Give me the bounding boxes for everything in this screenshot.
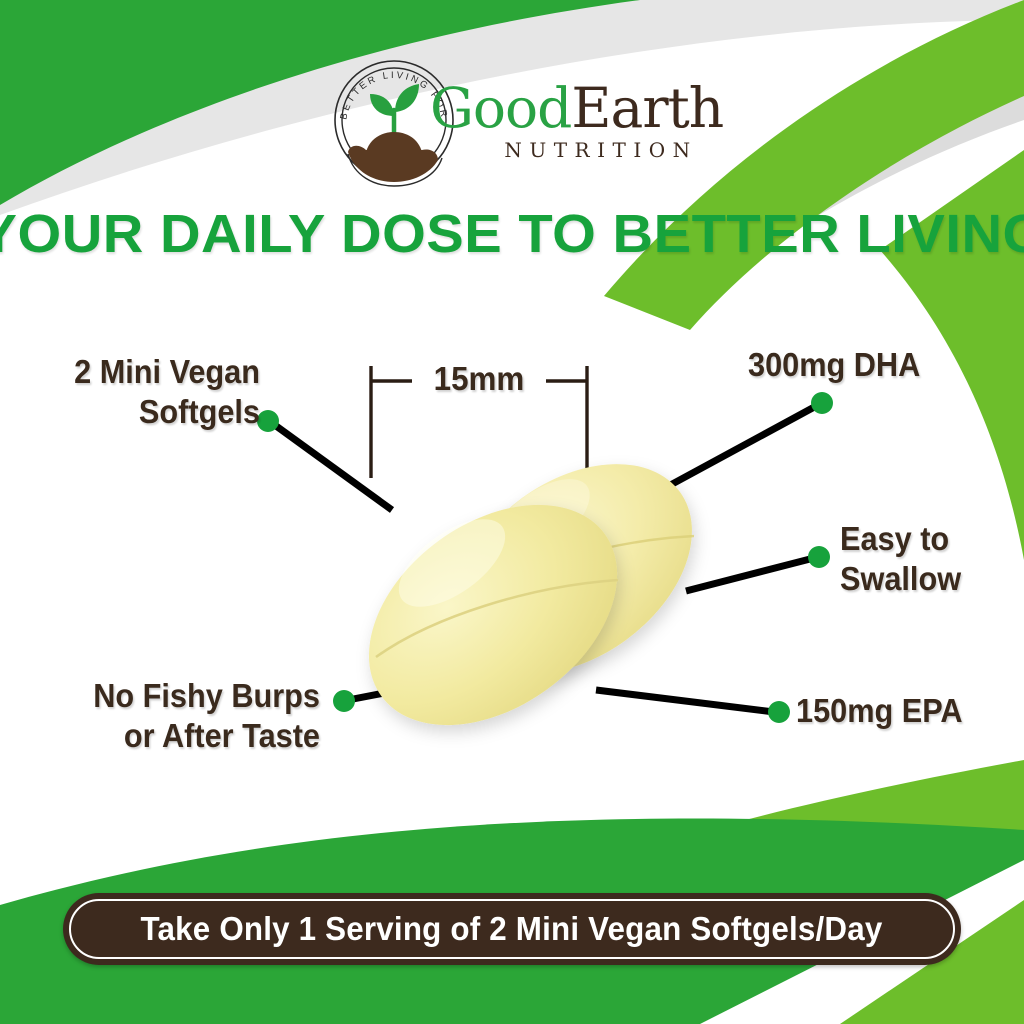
logo-wordmark: GoodEarth NUTRITION xyxy=(430,80,720,180)
dimension-label: 15mm xyxy=(413,360,546,398)
logo-word-good: Good xyxy=(430,76,571,140)
page-title: YOUR DAILY DOSE TO BETTER LIVING xyxy=(0,203,1024,265)
callout-softgels-line2: Softgels xyxy=(28,392,261,432)
callout-easy-to-swallow: Easy to Swallow xyxy=(840,519,1007,599)
callout-epa-line1: 150mg EPA xyxy=(796,691,1010,731)
callout-easy-line1: Easy to xyxy=(840,519,1007,559)
callout-softgels: 2 Mini Vegan Softgels xyxy=(28,352,261,432)
callout-easy-line2: Swallow xyxy=(840,559,1007,599)
callout-no-fishy-burps: No Fishy Burps or After Taste xyxy=(50,676,320,756)
brand-logo: BETTER LIVING FOR ALL GoodEarth NUTRITIO… xyxy=(326,52,716,188)
dosage-banner: Take Only 1 Serving of 2 Mini Vegan Soft… xyxy=(63,893,961,965)
logo-word-earth: Earth xyxy=(571,76,723,140)
soil-mound-icon xyxy=(366,132,422,152)
hand-holding-soil-icon xyxy=(348,146,438,182)
callout-fishy-line2: or After Taste xyxy=(50,716,320,756)
dosage-banner-text: Take Only 1 Serving of 2 Mini Vegan Soft… xyxy=(141,910,883,948)
callout-dha-line1: 300mg DHA xyxy=(748,345,990,385)
logo-tagline: NUTRITION xyxy=(430,138,720,162)
callout-fishy-line1: No Fishy Burps xyxy=(50,676,320,716)
product-infographic: BETTER LIVING FOR ALL GoodEarth NUTRITIO… xyxy=(0,0,1024,1024)
callout-epa: 150mg EPA xyxy=(796,691,1010,731)
callout-softgels-line1: 2 Mini Vegan xyxy=(28,352,261,392)
callout-dha: 300mg DHA xyxy=(748,345,990,385)
